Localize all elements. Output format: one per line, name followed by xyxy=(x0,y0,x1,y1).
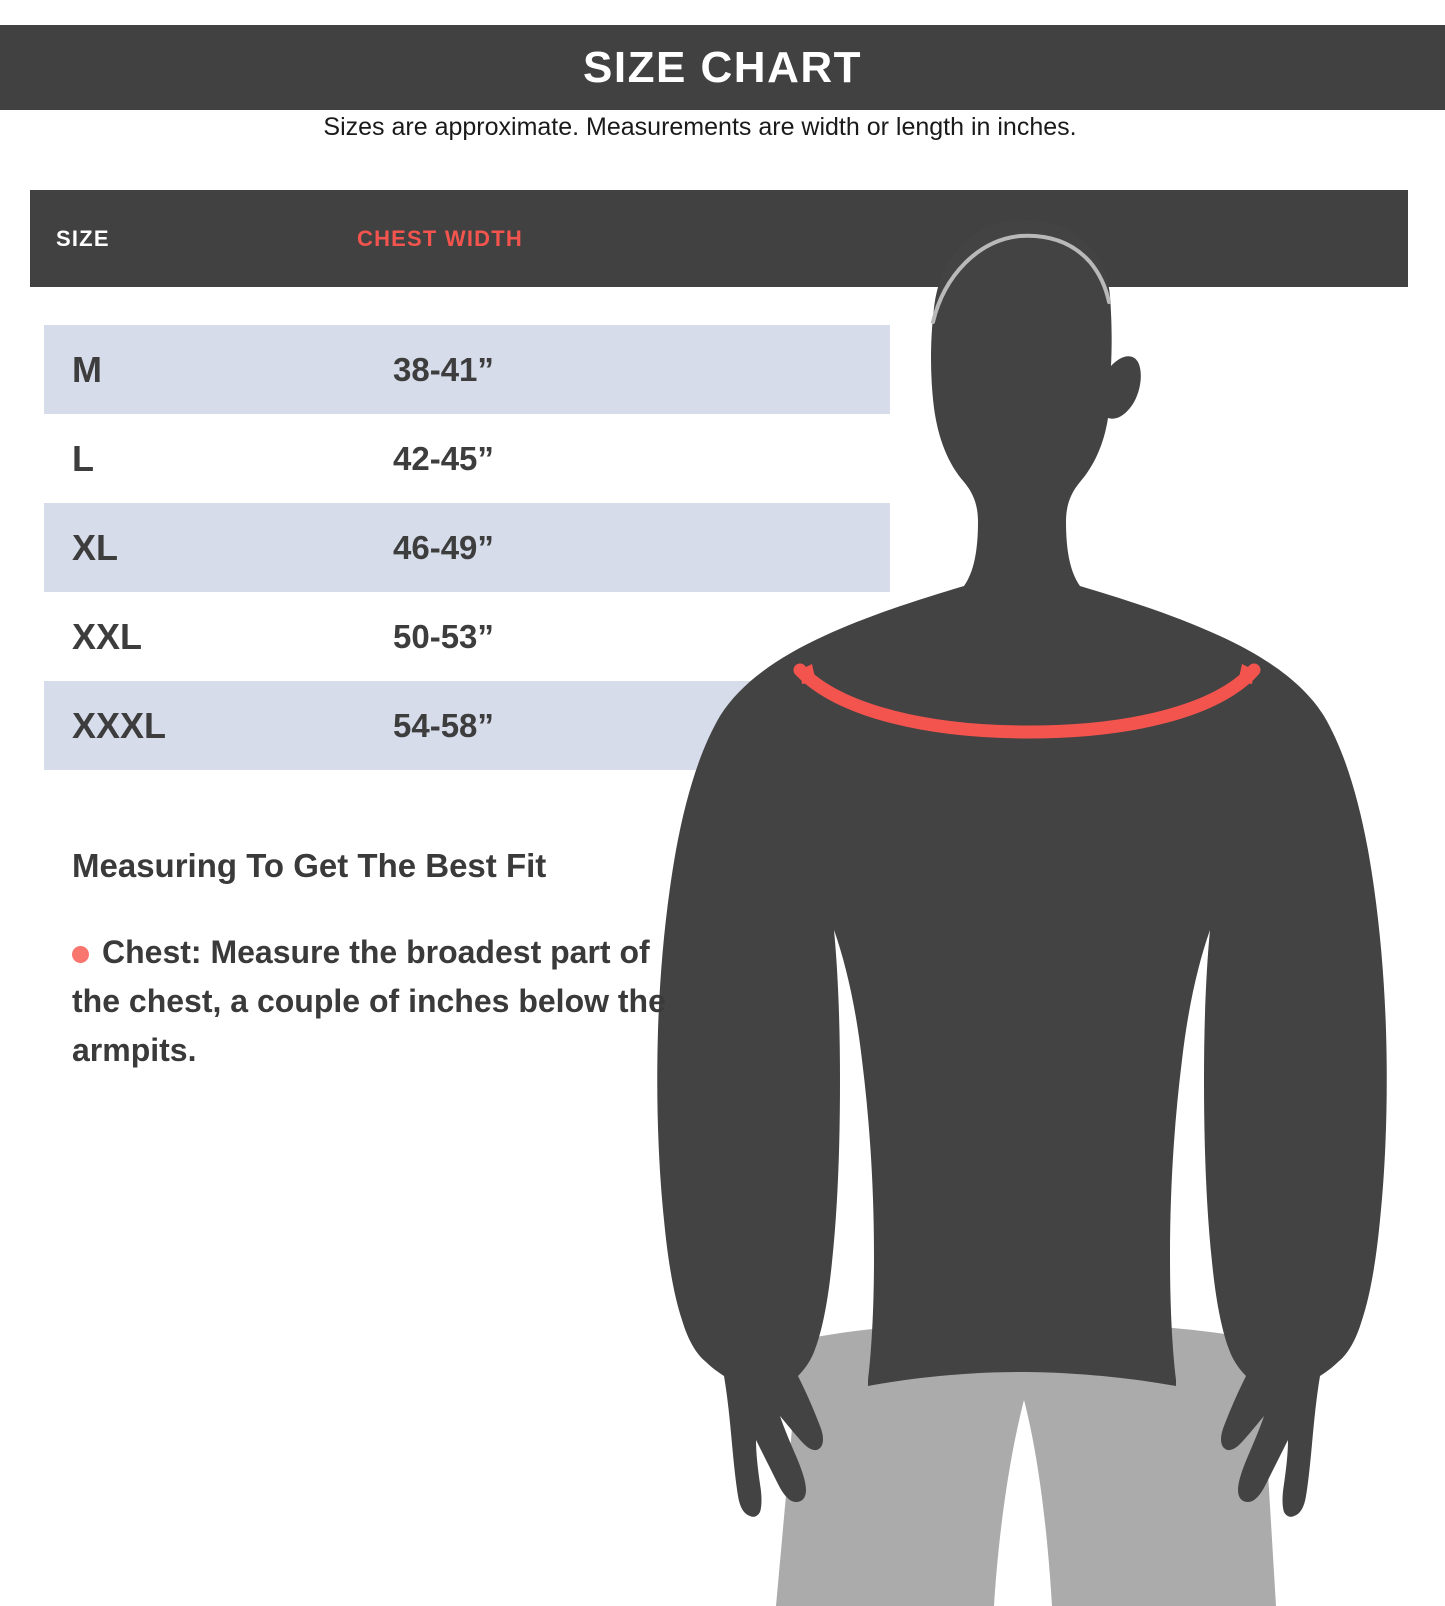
instructions-heading: Measuring To Get The Best Fit xyxy=(72,848,692,884)
subtitle-text: Sizes are approximate. Measurements are … xyxy=(0,113,1400,142)
column-header-size: SIZE xyxy=(56,226,110,252)
title-bar: SIZE CHART xyxy=(0,25,1445,110)
instruction-bullet-item: Chest: Measure the broadest part of the … xyxy=(72,928,692,1075)
instruction-bullet-text: Chest: Measure the broadest part of the … xyxy=(72,928,692,1075)
cell-size: XL xyxy=(72,527,118,569)
cell-chest: 46-49” xyxy=(393,529,494,567)
column-header-chest-width: CHEST WIDTH xyxy=(357,226,523,252)
cell-size: M xyxy=(72,349,102,391)
cell-size: XXXL xyxy=(72,705,166,747)
cell-size: XXL xyxy=(72,616,142,658)
measuring-instructions: Measuring To Get The Best Fit Chest: Mea… xyxy=(72,848,692,1075)
body-shape xyxy=(657,220,1387,1517)
cell-size: L xyxy=(72,438,94,480)
cell-chest: 54-58” xyxy=(393,707,494,745)
male-torso-silhouette xyxy=(600,200,1445,1606)
size-chart-page: SIZE CHART Sizes are approximate. Measur… xyxy=(0,0,1445,1606)
cell-chest: 50-53” xyxy=(393,618,494,656)
cell-chest: 38-41” xyxy=(393,351,494,389)
cell-chest: 42-45” xyxy=(393,440,494,478)
page-title: SIZE CHART xyxy=(583,46,862,90)
